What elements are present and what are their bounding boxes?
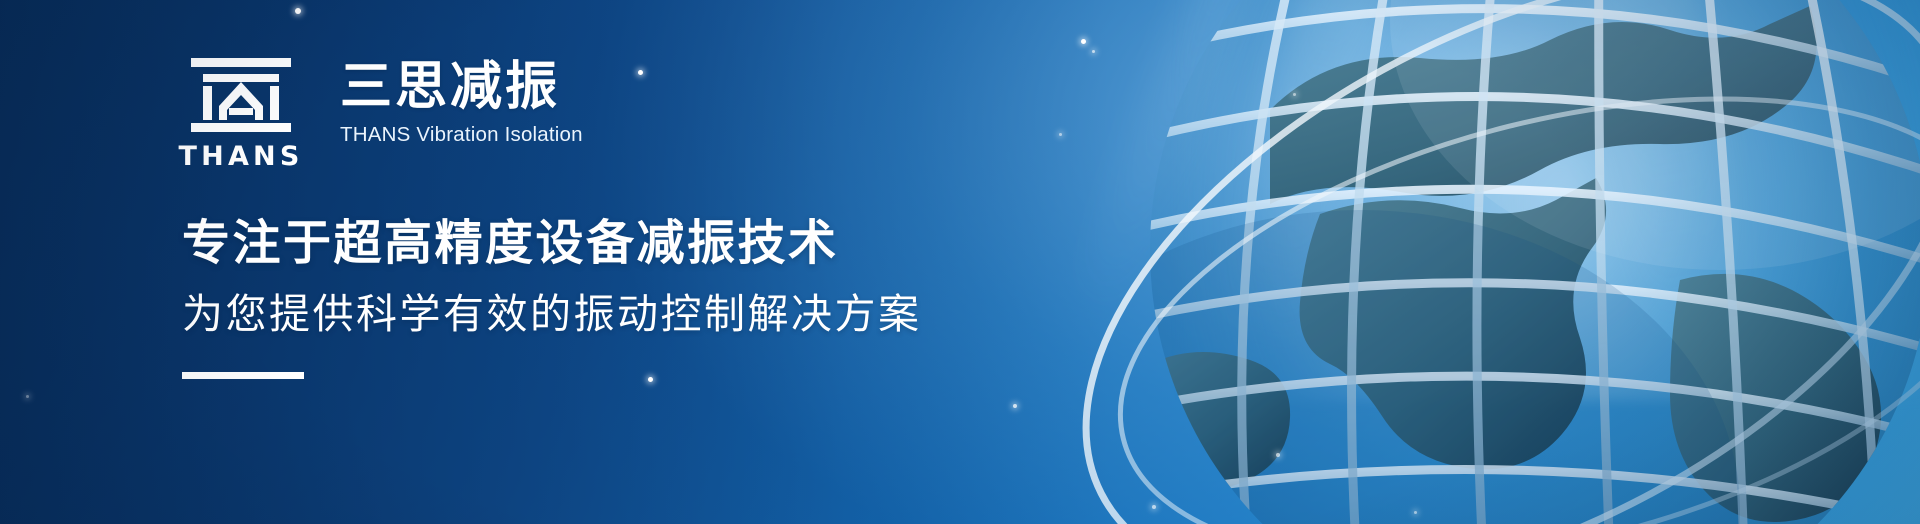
logo-block: THANS [182, 56, 300, 170]
brand-name-block: 三思减振 THANS Vibration Isolation [340, 56, 583, 147]
sun-glow [1180, 0, 1920, 400]
brand-english-tagline: THANS Vibration Isolation [340, 123, 583, 147]
sparkle-dot [1414, 511, 1417, 514]
hero-banner: THANS 三思减振 THANS Vibration Isolation 专注于… [0, 0, 1920, 524]
sparkle-dot [1081, 39, 1086, 44]
banner-content: THANS 三思减振 THANS Vibration Isolation 专注于… [182, 56, 1082, 379]
thans-monogram-icon [189, 56, 293, 132]
light-ray [1561, 0, 1760, 362]
sparkle-dot [1013, 404, 1017, 408]
banner-headline: 专注于超高精度设备减振技术 [182, 216, 1082, 271]
sparkle-dot [1293, 93, 1296, 96]
sparkle-dot [26, 395, 29, 398]
sparkle-dot [295, 8, 301, 14]
sparkle-dot [1092, 50, 1095, 53]
brand-lockup: THANS 三思减振 THANS Vibration Isolation [182, 56, 1082, 170]
globe-sculpture-image [1020, 0, 1920, 524]
brand-chinese-name: 三思减振 [340, 60, 583, 115]
banner-subheadline: 为您提供科学有效的振动控制解决方案 [182, 291, 1082, 338]
accent-divider [182, 372, 304, 379]
light-ray [1057, 0, 1307, 333]
sparkle-dot [1276, 453, 1280, 457]
light-ray [1214, 0, 1419, 357]
wordmark: THANS [179, 143, 304, 170]
sparkle-dot [1152, 505, 1156, 509]
